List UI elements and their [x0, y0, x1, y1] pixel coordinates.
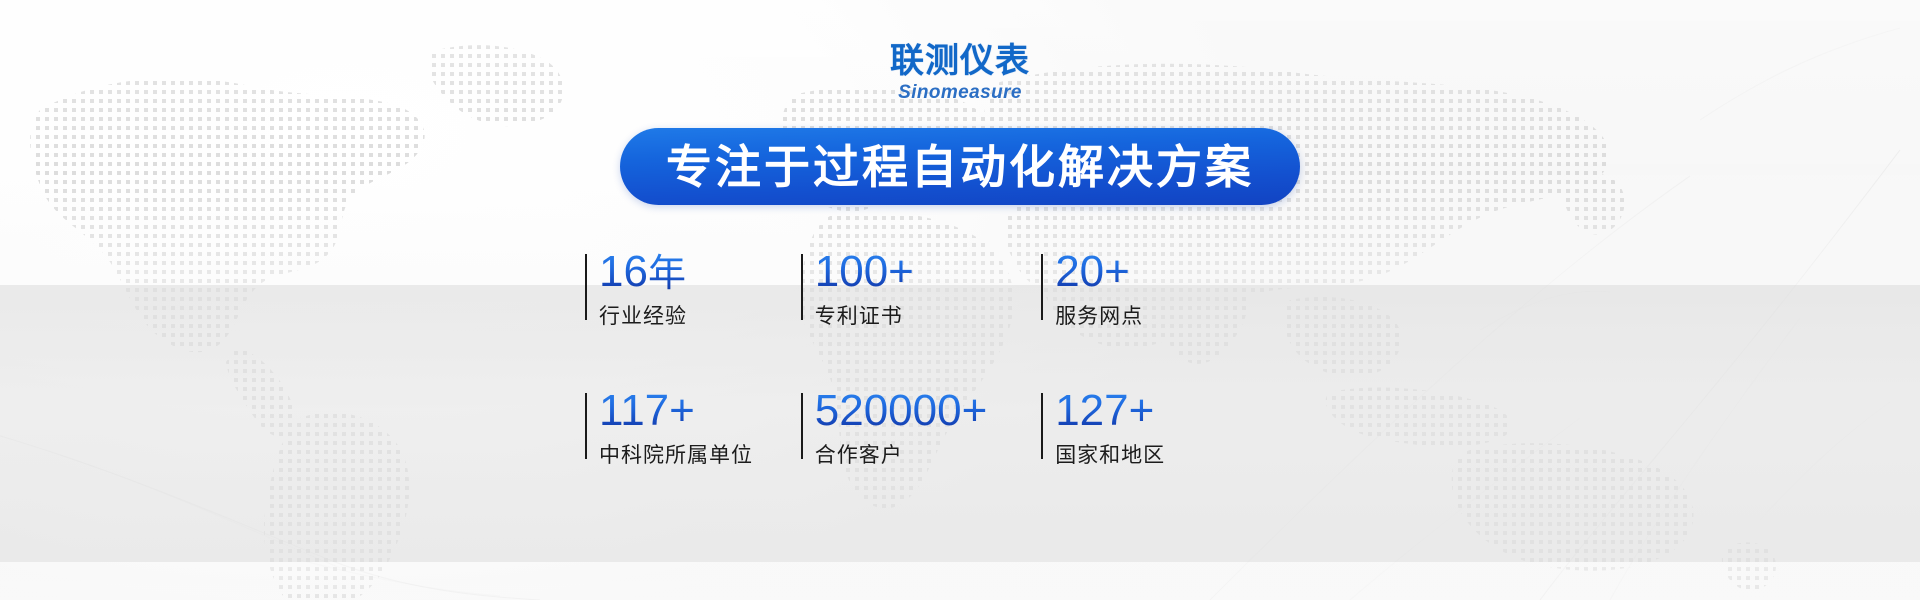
- stat-label: 专利证书: [815, 300, 914, 330]
- stat-value: 20+: [1055, 250, 1143, 295]
- brand-name-en: Sinomeasure: [0, 82, 1920, 104]
- brand-name-cn: 联测仪表: [0, 44, 1920, 80]
- stat-value: 16年: [599, 250, 687, 295]
- stat-item-patent-certificates: 100+ 专利证书: [801, 250, 1041, 330]
- statistics-row-2: 117+ 中科院所属单位 520000+ 合作客户: [585, 389, 1225, 469]
- statistics-row-1: 16年 行业经验 100+ 专利证书: [585, 250, 1225, 330]
- brand-logo: 联测仪表 Sinomeasure: [0, 44, 1920, 104]
- statistics-grid: 16年 行业经验 100+ 专利证书: [585, 250, 1225, 469]
- stat-unit: 年: [648, 251, 686, 295]
- stat-item-countries-and-regions: 127+ 国家和地区: [1041, 389, 1225, 469]
- stat-number: 16: [599, 247, 648, 296]
- stat-item-cooperative-customers: 520000+ 合作客户: [801, 389, 1041, 469]
- banner-content: 联测仪表 Sinomeasure 专注于过程自动化解决方案 16年 行业经验: [0, 0, 1920, 600]
- stat-number: 100+: [815, 247, 914, 296]
- stat-value: 100+: [815, 250, 914, 295]
- stat-label: 服务网点: [1055, 300, 1143, 330]
- stat-number: 117+: [599, 386, 695, 435]
- stat-value: 520000+: [815, 389, 988, 434]
- headline-pill: 专注于过程自动化解决方案: [620, 128, 1300, 205]
- stat-number: 520000+: [815, 386, 988, 435]
- headline-pill-wrapper: 专注于过程自动化解决方案: [0, 128, 1920, 205]
- stat-number: 127+: [1055, 386, 1154, 435]
- stat-number: 20+: [1055, 247, 1130, 296]
- stat-label: 行业经验: [599, 300, 687, 330]
- headline-text: 专注于过程自动化解决方案: [666, 144, 1254, 190]
- stat-item-cas-affiliated-units: 117+ 中科院所属单位: [585, 389, 801, 469]
- stat-item-industry-experience: 16年 行业经验: [585, 250, 801, 330]
- stat-label: 中科院所属单位: [599, 439, 753, 469]
- stat-value: 117+: [599, 389, 753, 434]
- stat-label: 国家和地区: [1055, 439, 1165, 469]
- hero-banner: 联测仪表 Sinomeasure 专注于过程自动化解决方案 16年 行业经验: [0, 0, 1920, 600]
- stat-item-service-locations: 20+ 服务网点: [1041, 250, 1225, 330]
- stat-value: 127+: [1055, 389, 1165, 434]
- stat-label: 合作客户: [815, 439, 988, 469]
